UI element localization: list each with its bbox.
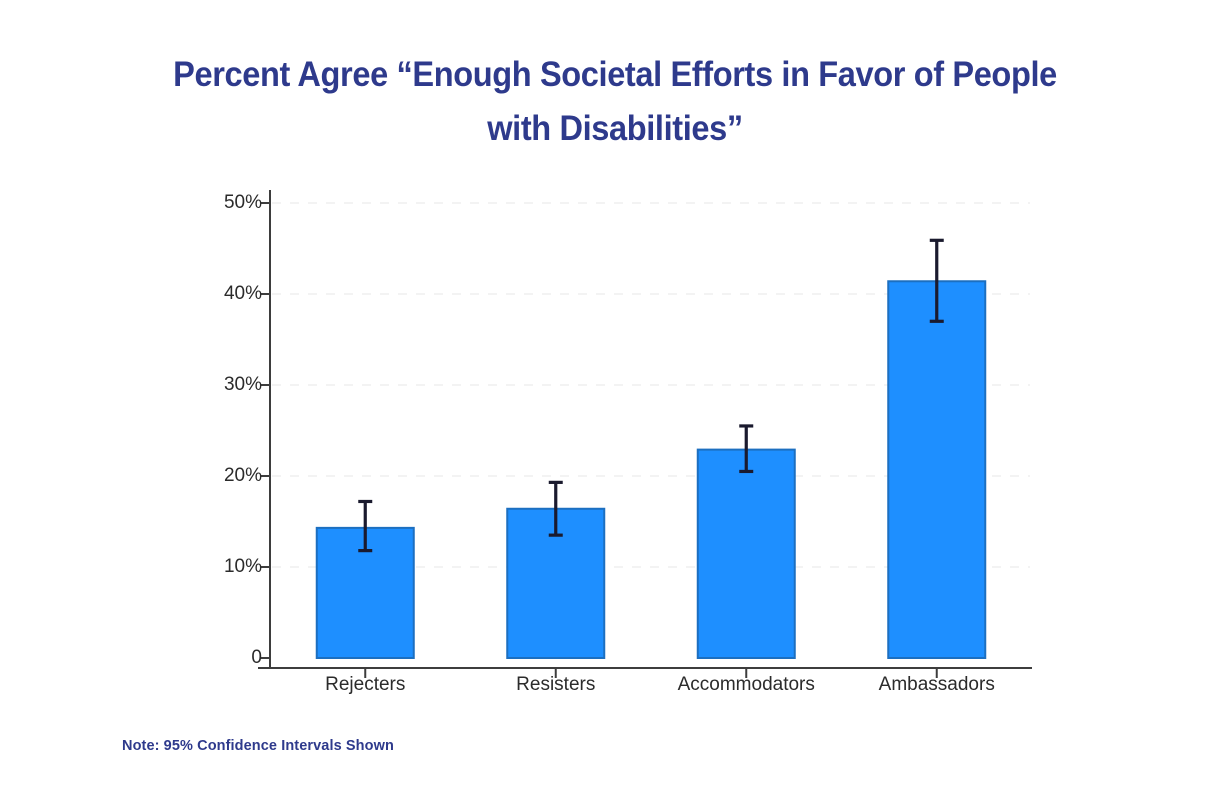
x-tick-label-resisters: Resisters <box>516 674 595 696</box>
x-tick-label-ambassadors: Ambassadors <box>879 674 995 696</box>
x-tick-label-accommodators: Accommodators <box>678 674 815 696</box>
bar-ambassadors <box>888 281 985 658</box>
y-tick-marks-group <box>260 203 270 658</box>
bar-accommodators <box>698 450 795 658</box>
y-tick-label: 50% <box>202 192 262 214</box>
x-tick-marks-group <box>365 668 937 678</box>
bars-group <box>317 281 986 658</box>
y-tick-label: 10% <box>202 556 262 578</box>
y-tick-label: 0 <box>202 647 262 669</box>
chart-plot-area: 010%20%30%40%50% RejectersResistersAccom… <box>0 0 1230 800</box>
y-tick-label: 20% <box>202 465 262 487</box>
y-tick-label: 40% <box>202 283 262 305</box>
chart-note: Note: 95% Confidence Intervals Shown <box>122 738 394 754</box>
error-bars-group <box>358 240 944 550</box>
x-tick-label-rejecters: Rejecters <box>325 674 405 696</box>
chart-canvas <box>0 0 1230 800</box>
y-tick-label: 30% <box>202 374 262 396</box>
